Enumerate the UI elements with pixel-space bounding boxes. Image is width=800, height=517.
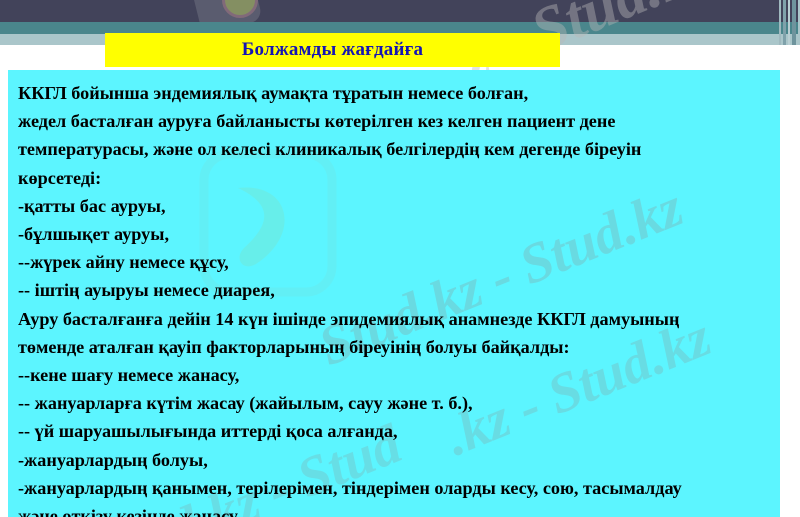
edge-stripe-4 — [792, 0, 796, 45]
body-line: -жануарлардың қанымен, терілерімен, тінд… — [18, 474, 776, 502]
body-line: ККГЛ бойынша эндемиялық аумақта тұратын … — [18, 79, 776, 107]
body-line: Ауру басталғанға дейін 14 күн ішінде эпи… — [18, 305, 776, 333]
slide-title-banner: Болжамды жағдайға — [105, 33, 560, 67]
slide-body-text: ККГЛ бойынша эндемиялық аумақта тұратын … — [18, 79, 776, 517]
header-band-dark — [0, 0, 800, 22]
header-edge-stripes — [778, 0, 800, 45]
body-line: температурасы, және ол келесі клиникалық… — [18, 135, 776, 163]
edge-stripe-2 — [783, 0, 786, 45]
body-line: -бұлшықет ауруы, — [18, 220, 776, 248]
page-title: Болжамды жағдайға — [242, 39, 423, 61]
body-line: --кене шағу немесе жанасу, — [18, 361, 776, 389]
body-line: және өткізу кезінде жанасу, — [18, 502, 776, 517]
body-line: жедел басталған ауруға байланысты көтері… — [18, 107, 776, 135]
body-line: --жүрек айну немесе құсу, — [18, 248, 776, 276]
body-line: көрсетеді: — [18, 164, 776, 192]
body-line: -- іштің ауыруы немесе диарея, — [18, 276, 776, 304]
body-line: -қатты бас ауруы, — [18, 192, 776, 220]
body-line: -- үй шаруашылығында иттерді қоса алғанд… — [18, 417, 776, 445]
edge-stripe-3 — [788, 0, 790, 45]
body-line: -- жануарларға күтім жасау (жайылым, сау… — [18, 389, 776, 417]
body-line: төменде аталған қауіп факторларының біре… — [18, 333, 776, 361]
body-line: -жануарлардың болуы, — [18, 446, 776, 474]
edge-stripe-1 — [779, 0, 781, 45]
slide-body: Stud.kz - Stud.kz .kz - Stud.kz Stud.kz … — [8, 70, 780, 517]
slide-canvas: z - Stud.kz Болжамды жағдайға Stud.kz - … — [0, 0, 800, 517]
